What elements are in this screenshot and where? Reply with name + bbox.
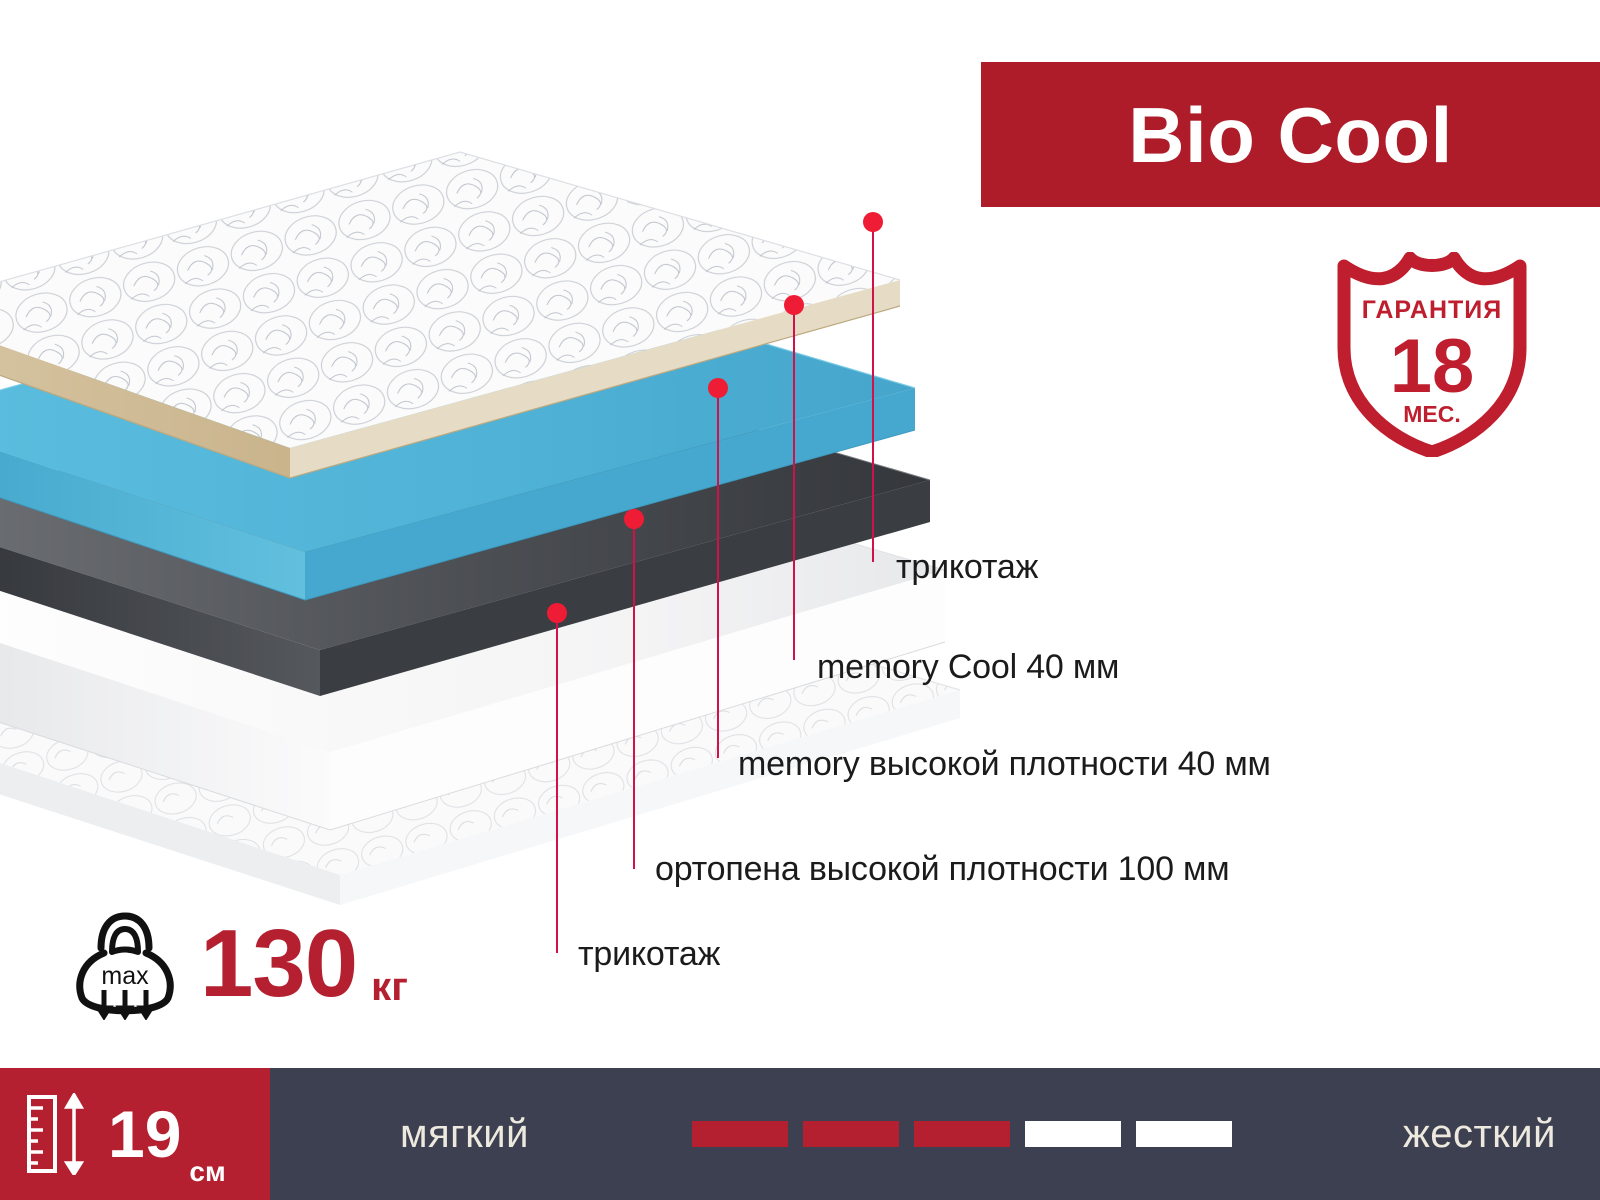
warranty-number: 18: [1390, 324, 1475, 409]
firmness-soft-label: мягкий: [400, 1112, 529, 1157]
firmness-segment-5[interactable]: [1136, 1121, 1232, 1147]
leader-line-memory-density: [717, 388, 719, 758]
height-unit: см: [189, 1156, 225, 1188]
svg-text:max: max: [101, 962, 149, 990]
height-value: 19: [108, 1101, 181, 1167]
max-weight-unit: кг: [371, 965, 408, 1010]
bottom-bar: 19 см мягкий жесткий: [0, 1068, 1600, 1200]
callout-dot-memory-density[interactable]: [708, 378, 728, 398]
warranty-word: ГАРАНТИЯ: [1362, 296, 1502, 324]
callout-dot-ortopena[interactable]: [624, 509, 644, 529]
firmness-firm-label: жесткий: [1403, 1112, 1556, 1157]
max-weight-block: max 130 кг: [70, 908, 408, 1020]
callout-label-ortopena: ортопена высокой плотности 100 мм: [655, 850, 1229, 889]
firmness-scale[interactable]: [692, 1121, 1232, 1147]
callout-label-knit-top: трикотаж: [896, 548, 1038, 587]
warranty-badge: ГАРАНТИЯ 18 МЕС.: [1334, 252, 1530, 457]
warranty-unit: МЕС.: [1403, 401, 1461, 427]
leader-line-knit-bottom: [556, 613, 558, 953]
firmness-segment-2[interactable]: [803, 1121, 899, 1147]
kettlebell-icon: max: [70, 908, 180, 1020]
leader-line-ortopena: [633, 519, 635, 869]
firmness-segment-3[interactable]: [914, 1121, 1010, 1147]
height-block: 19 см: [0, 1068, 270, 1200]
product-title-banner: Bio Cool: [981, 62, 1600, 207]
page-title: Bio Cool: [1128, 96, 1453, 174]
callout-dot-knit-top[interactable]: [863, 212, 883, 232]
callout-label-memory-cool: memory Cool 40 мм: [817, 648, 1119, 687]
firmness-segment-1[interactable]: [692, 1121, 788, 1147]
firmness-block: мягкий жесткий: [270, 1068, 1600, 1200]
callout-dot-knit-bottom[interactable]: [547, 603, 567, 623]
leader-line-memory-cool: [793, 305, 795, 660]
product-infographic: трикотаж memory Cool 40 мм memory высоко…: [0, 0, 1600, 1200]
callout-dot-memory-cool[interactable]: [784, 295, 804, 315]
callout-label-knit-bottom: трикотаж: [578, 935, 720, 974]
ruler-icon: [26, 1093, 92, 1175]
mattress-illustration: [0, 130, 970, 920]
firmness-segment-4[interactable]: [1025, 1121, 1121, 1147]
callout-label-memory-density: memory высокой плотности 40 мм: [738, 745, 1271, 784]
leader-line-knit-top: [872, 222, 874, 562]
max-weight-value: 130: [200, 916, 357, 1012]
